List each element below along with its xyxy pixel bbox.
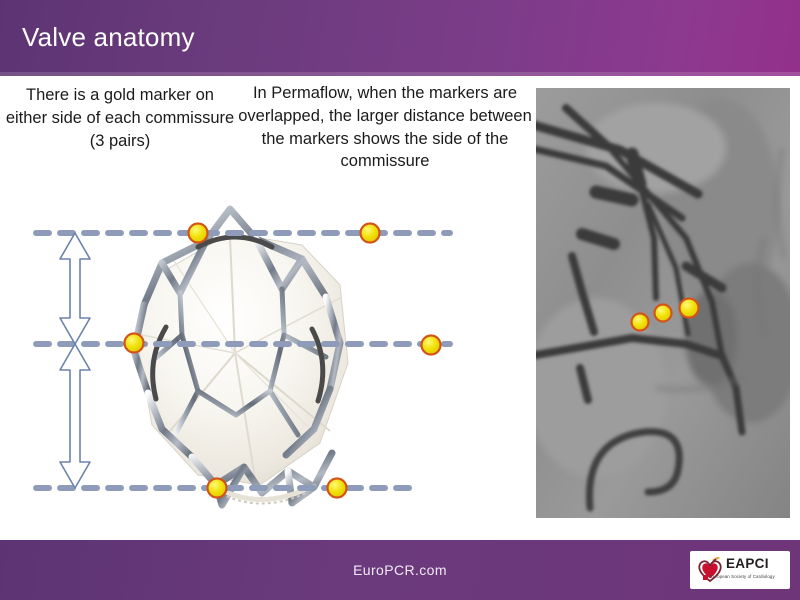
header-underline	[0, 72, 800, 76]
slide-root: Valve anatomy There is a gold marker on …	[0, 0, 800, 600]
page-title: Valve anatomy	[22, 22, 195, 53]
xray-marker-2	[655, 305, 672, 322]
mid-right-marker	[422, 336, 441, 355]
eapci-title: EAPCI	[726, 556, 769, 571]
esc-square-icon	[703, 575, 708, 580]
left-caption: There is a gold marker on either side of…	[4, 84, 236, 152]
measurement-arrows	[60, 233, 90, 488]
valve-figure	[30, 185, 490, 515]
footer-url[interactable]: EuroPCR.com	[0, 562, 800, 578]
top-right-marker	[361, 224, 380, 243]
eapci-subtitle: European Society of Cardiology	[710, 574, 775, 579]
short-distance-arrow	[60, 233, 90, 344]
fluoroscopy-image	[536, 88, 790, 518]
long-distance-arrow	[60, 344, 90, 488]
xray-marker-1	[632, 314, 649, 331]
bottom-left-marker	[208, 479, 227, 498]
eapci-heart-icon	[697, 557, 723, 583]
mid-left-marker	[125, 334, 144, 353]
center-caption: In Permaflow, when the markers are overl…	[238, 82, 532, 173]
top-left-marker	[189, 224, 208, 243]
bottom-right-marker	[328, 479, 347, 498]
xray-marker-3	[680, 299, 699, 318]
xray-figure	[536, 88, 790, 518]
valve-illustration	[30, 185, 490, 515]
